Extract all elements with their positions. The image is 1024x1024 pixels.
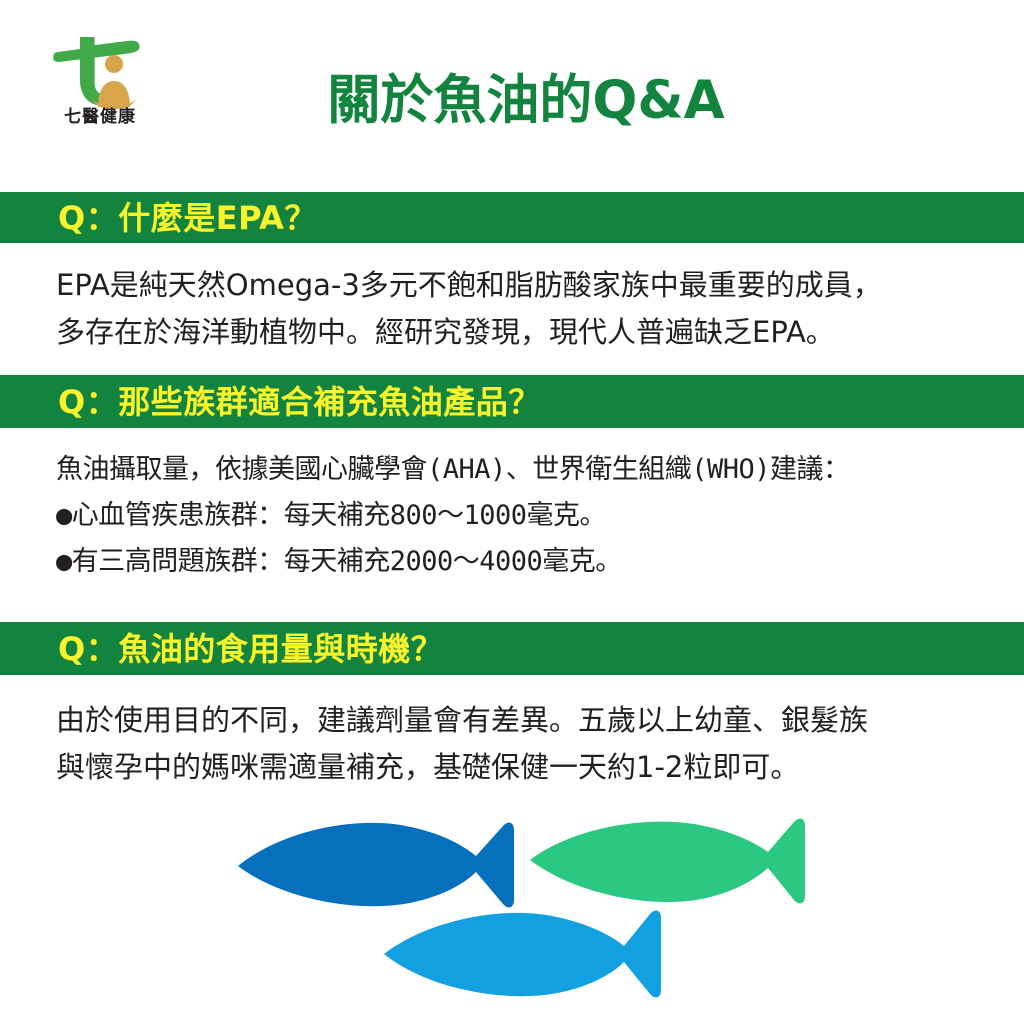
question-text-2: Q：那些族群適合補充魚油產品？ <box>58 386 541 418</box>
question-text-3: Q：魚油的食用量與時機？ <box>58 633 443 665</box>
answer-line: 多存在於海洋動植物中。經研究發現，現代人普遍缺乏EPA。 <box>56 309 882 356</box>
answer-block-1: EPA是純天然Omega-3多元不飽和脂肪酸家族中最重要的成員， 多存在於海洋動… <box>56 262 882 356</box>
question-text-1: Q：什麼是EPA？ <box>58 202 317 234</box>
question-bar-1: Q：什麼是EPA？ <box>0 192 1024 243</box>
answer-bullet-line: ●有三高問題族群：每天補充2000～4000毫克。 <box>56 539 850 585</box>
three-fish-illustration <box>224 808 824 1008</box>
fish-light-blue <box>384 911 661 998</box>
answer-line: EPA是純天然Omega-3多元不飽和脂肪酸家族中最重要的成員， <box>56 262 882 309</box>
answer-line: 由於使用目的不同，建議劑量會有差異。五歲以上幼童、銀髮族 <box>56 697 868 744</box>
answer-bullet-line: ●心血管疾患族群：每天補充800～1000毫克。 <box>56 493 850 539</box>
question-bar-3: Q：魚油的食用量與時機？ <box>0 622 1024 675</box>
fish-green <box>530 819 805 904</box>
page-header: 七醫健康 關於魚油的Q&A <box>0 0 1024 192</box>
answer-line: 與懷孕中的媽咪需適量補充，基礎保健一天約1-2粒即可。 <box>56 744 868 791</box>
answer-block-3: 由於使用目的不同，建議劑量會有差異。五歲以上幼童、銀髮族 與懷孕中的媽咪需適量補… <box>56 697 868 791</box>
fish-dark-blue <box>238 823 514 908</box>
page-title: 關於魚油的Q&A <box>0 72 1024 130</box>
answer-line: 魚油攝取量，依據美國心臟學會(AHA)、世界衛生組織(WHO)建議： <box>56 447 850 493</box>
question-bar-2: Q：那些族群適合補充魚油產品？ <box>0 375 1024 428</box>
answer-block-2: 魚油攝取量，依據美國心臟學會(AHA)、世界衛生組織(WHO)建議： ●心血管疾… <box>56 447 850 585</box>
